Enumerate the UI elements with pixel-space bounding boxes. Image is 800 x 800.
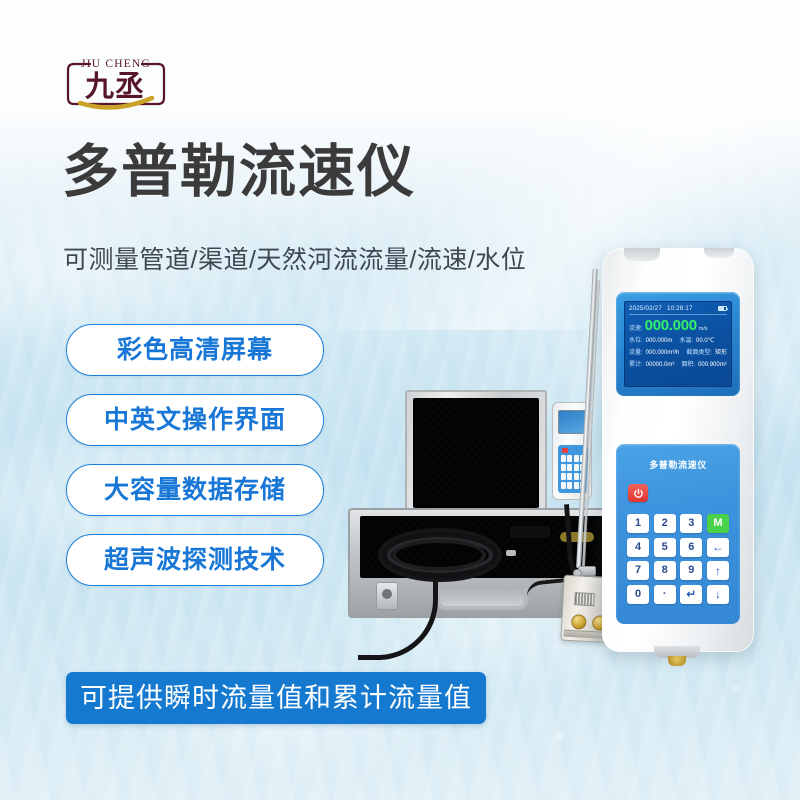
screen-velocity-row: 流速: 000.000 m/s — [629, 318, 727, 333]
key-menu[interactable]: M — [707, 514, 729, 533]
feature-list: 彩色高清屏幕 中英文操作界面 大容量数据存储 超声波探测技术 — [66, 324, 324, 604]
flow-rate-value: 000.000m³/h — [646, 350, 680, 356]
feature-pill-2[interactable]: 中英文操作界面 — [66, 394, 324, 446]
arrow-up-icon[interactable]: ↑ — [707, 561, 729, 580]
device-top-notch-left — [624, 248, 660, 261]
total-label: 累计: — [629, 359, 643, 368]
feature-label: 大容量数据存储 — [104, 478, 286, 503]
screen-row-total: 累计: 00000.0m³ 面积: 000.900m² — [629, 359, 727, 368]
bottom-banner: 可提供瞬时流量值和累计流量值 — [66, 672, 486, 724]
sensor-cable-loop — [358, 580, 438, 660]
carry-case-lid — [405, 390, 547, 516]
device-model-label: 多普勒流速仪 — [616, 444, 740, 471]
key-3[interactable]: 3 — [680, 514, 702, 533]
foam-slot-small-part — [506, 550, 516, 556]
screen-time: 10:28:17 — [667, 305, 693, 312]
case-handle[interactable] — [436, 588, 528, 610]
key-7[interactable]: 7 — [627, 561, 649, 580]
feature-pill-4[interactable]: 超声波探测技术 — [66, 534, 324, 586]
key-4[interactable]: 4 — [627, 538, 649, 557]
key-8[interactable]: 8 — [654, 561, 676, 580]
foam-slot-accessory — [510, 526, 550, 538]
feature-label: 彩色高清屏幕 — [117, 338, 273, 363]
area-value: 000.900m² — [698, 362, 727, 368]
water-temp-value: 00.0℃ — [696, 337, 714, 344]
page-title: 多普勒流速仪 — [62, 144, 416, 201]
enter-icon[interactable]: ↵ — [680, 585, 702, 604]
screen-status-bar: 2025/02/27 10:28:17 — [629, 305, 727, 315]
feature-label: 超声波探测技术 — [104, 548, 286, 573]
bottom-banner-label: 可提供瞬时流量值和累计流量值 — [80, 685, 472, 712]
feature-label: 中英文操作界面 — [104, 408, 286, 433]
probe-barcode-label — [574, 592, 595, 606]
arrow-left-icon[interactable]: ← — [707, 538, 729, 557]
key-0[interactable]: 0 — [627, 585, 649, 604]
transducer-icon-left — [571, 614, 587, 630]
water-level-label: 水位: — [629, 335, 643, 344]
battery-icon — [718, 306, 727, 311]
key-9[interactable]: 9 — [680, 561, 702, 580]
device-connector-port — [668, 656, 686, 666]
velocity-unit: m/s — [699, 326, 708, 332]
flow-rate-label: 流量: — [629, 347, 643, 356]
screen-row-flow: 流量: 000.000m³/h 截面类型: 矩形 — [629, 347, 727, 356]
area-label: 面积: — [681, 359, 695, 368]
device-screen-bezel: 2025/02/27 10:28:17 流速: 000.000 m/s 水位: … — [616, 292, 740, 396]
feature-pill-1[interactable]: 彩色高清屏幕 — [66, 324, 324, 376]
logo-cn-text: 九丞 — [85, 70, 145, 103]
handheld-flow-meter: 2025/02/27 10:28:17 流速: 000.000 m/s 水位: … — [602, 248, 754, 652]
arrow-down-icon[interactable]: ↓ — [707, 585, 729, 604]
brand-logo: JIU CHENG 九丞 — [60, 50, 172, 112]
feature-pill-3[interactable]: 大容量数据存储 — [66, 464, 324, 516]
velocity-value: 000.000 — [645, 318, 697, 333]
total-value: 00000.0m³ — [646, 362, 675, 368]
key-2[interactable]: 2 — [654, 514, 676, 533]
section-type-label: 截面类型: — [686, 347, 712, 356]
water-temp-label: 水温: — [679, 335, 693, 344]
product-poster: JIU CHENG 九丞 多普勒流速仪 可测量管道/渠道/天然河流流量/流速/水… — [0, 0, 800, 800]
screen-date: 2025/02/27 — [629, 305, 662, 312]
velocity-label: 流速: — [629, 323, 643, 332]
case-inner-power-icon — [562, 448, 568, 453]
key-5[interactable]: 5 — [654, 538, 676, 557]
product-photo: 2025/02/27 10:28:17 流速: 000.000 m/s 水位: … — [330, 250, 800, 670]
screen-row-water: 水位: 000.000m 水温: 00.0℃ — [629, 335, 727, 344]
power-button[interactable] — [628, 484, 648, 502]
power-icon — [633, 488, 644, 499]
key-6[interactable]: 6 — [680, 538, 702, 557]
device-screen: 2025/02/27 10:28:17 流速: 000.000 m/s 水位: … — [624, 301, 732, 387]
section-type-value: 矩形 — [715, 347, 727, 356]
coiled-cable-inner — [392, 539, 486, 571]
water-level-value: 000.000m — [646, 338, 673, 344]
key-1[interactable]: 1 — [627, 514, 649, 533]
key-decimal-point[interactable]: · — [654, 585, 676, 604]
device-top-notch-right — [704, 248, 734, 258]
case-lid-foam — [413, 398, 539, 508]
device-keypad-panel: 多普勒流速仪 1 2 3 M 4 5 6 ← 7 — [616, 444, 740, 624]
keypad-grid: 1 2 3 M 4 5 6 ← 7 8 9 ↑ 0 · ↵ ↓ — [627, 514, 729, 604]
logo-latin-text: JIU CHENG — [81, 58, 151, 70]
